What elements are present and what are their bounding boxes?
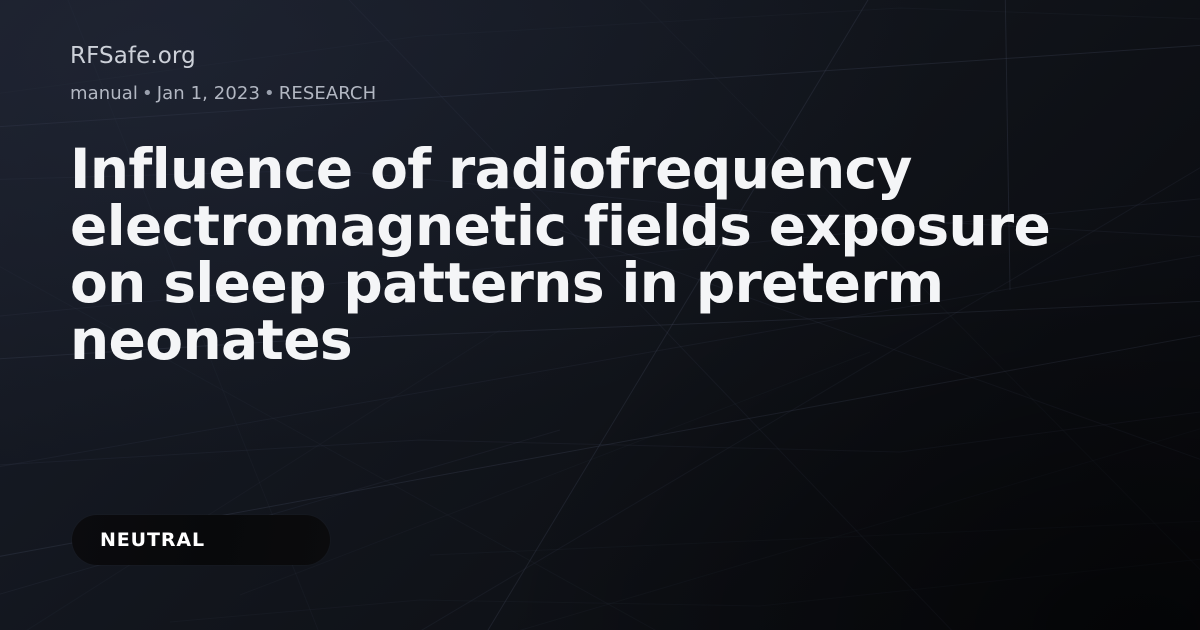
- meta-source: manual: [70, 83, 138, 104]
- status-badge-label: NEUTRAL: [100, 531, 205, 550]
- social-share-card: RFSafe.org manual•Jan 1, 2023•RESEARCH I…: [0, 0, 1200, 630]
- meta-separator-2: •: [260, 83, 279, 104]
- meta-line: manual•Jan 1, 2023•RESEARCH: [70, 83, 376, 105]
- site-name: RFSafe.org: [70, 44, 196, 69]
- status-badge: NEUTRAL: [72, 515, 330, 565]
- meta-date: Jan 1, 2023: [157, 83, 260, 104]
- meta-separator-1: •: [138, 83, 157, 104]
- card-content: RFSafe.org manual•Jan 1, 2023•RESEARCH I…: [0, 0, 1200, 630]
- meta-category: RESEARCH: [279, 83, 377, 104]
- page-title: Influence of radiofrequency electromagne…: [70, 141, 1110, 369]
